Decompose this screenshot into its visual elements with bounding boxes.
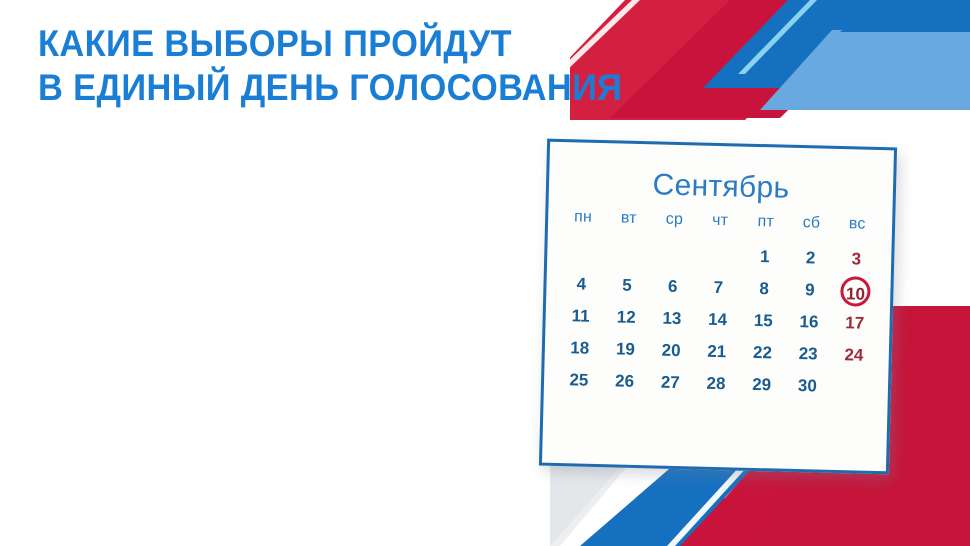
calendar-body: 1234567891011121314151617181920212223242…: [556, 236, 880, 404]
page-title-line-1: КАКИЕ ВЫБОРЫ ПРОЙДУТ: [38, 22, 622, 66]
calendar-day-27[interactable]: 27: [647, 366, 693, 399]
calendar-day-28[interactable]: 28: [693, 367, 739, 400]
calendar-day-21[interactable]: 21: [694, 335, 740, 368]
calendar-day-number: 25: [569, 371, 588, 388]
calendar-day-number: 28: [706, 375, 725, 392]
calendar-day-number: 11: [571, 307, 589, 324]
calendar-day-10[interactable]: 10: [832, 275, 879, 308]
calendar-day-number: 17: [845, 314, 864, 331]
calendar-day-5[interactable]: 5: [604, 269, 650, 302]
calendar-day-empty: [605, 237, 651, 270]
calendar-panel: Сентябрь пн вт ср чт пт сб вс 1234567891…: [539, 139, 897, 475]
calendar-day-number: 26: [615, 372, 634, 389]
calendar-week-row: 252627282930: [556, 364, 877, 404]
calendar-day-number: 15: [754, 312, 773, 329]
calendar-day-15[interactable]: 15: [740, 305, 786, 338]
decor-cyan-accent-line: [738, 0, 817, 74]
calendar-grid: пн вт ср чт пт сб вс 1234567891011121314…: [556, 206, 881, 404]
calendar-day-number: 7: [713, 279, 723, 296]
calendar-day-number: 30: [798, 377, 817, 394]
calendar-day-number: 8: [759, 280, 769, 297]
calendar-day-20[interactable]: 20: [648, 334, 694, 367]
calendar-day-number: 20: [661, 342, 680, 359]
calendar-day-17[interactable]: 17: [831, 307, 878, 340]
calendar-day-number: 3: [851, 250, 861, 267]
calendar-weekday-sun: вс: [834, 213, 881, 244]
poster-canvas: КАКИЕ ВЫБОРЫ ПРОЙДУТ В ЕДИНЫЙ ДЕНЬ ГОЛОС…: [0, 0, 970, 546]
calendar-day-23[interactable]: 23: [785, 338, 831, 371]
calendar-day-9[interactable]: 9: [787, 274, 833, 307]
calendar-day-number: 5: [622, 277, 632, 294]
calendar-day-highlight-ring: 10: [840, 276, 871, 307]
calendar-day-16[interactable]: 16: [786, 306, 832, 339]
calendar-weekday-sat: сб: [788, 212, 834, 243]
calendar-day-number: 12: [617, 308, 636, 325]
calendar-weekday-mon: пн: [560, 206, 606, 237]
calendar-day-3[interactable]: 3: [833, 243, 880, 276]
calendar-day-26[interactable]: 26: [601, 365, 647, 398]
calendar-day-number: 18: [570, 339, 589, 356]
calendar-day-6[interactable]: 6: [649, 270, 695, 303]
decor-blue-band-lower: [840, 0, 970, 32]
calendar-day-11[interactable]: 11: [557, 300, 603, 333]
calendar-day-18[interactable]: 18: [556, 332, 602, 365]
calendar-day-empty: [650, 238, 696, 271]
calendar-day-number: 1: [760, 248, 770, 265]
decor-white-accent-line-4: [667, 466, 748, 546]
calendar-day-12[interactable]: 12: [603, 301, 649, 334]
calendar-weekday-thu: чт: [697, 209, 743, 240]
calendar-day-number: 9: [805, 281, 815, 298]
calendar-day-1[interactable]: 1: [742, 241, 788, 274]
calendar-day-number: 4: [576, 275, 586, 292]
calendar-weekday-fri: пт: [742, 211, 788, 242]
calendar-day-29[interactable]: 29: [738, 369, 784, 402]
calendar-day-24[interactable]: 24: [831, 339, 878, 372]
decor-blue-band: [703, 0, 900, 88]
calendar-day-empty: [559, 236, 605, 269]
calendar-day-number: 29: [752, 376, 771, 393]
calendar-day-number: 21: [707, 343, 726, 360]
calendar-day-number: 27: [661, 374, 680, 391]
calendar-day-number: 16: [799, 313, 818, 330]
calendar-day-number: 24: [844, 346, 863, 363]
calendar-weekday-tue: вт: [605, 207, 651, 238]
calendar-day-25[interactable]: 25: [556, 364, 602, 397]
calendar-day-8[interactable]: 8: [741, 273, 787, 306]
calendar-card: Сентябрь пн вт ср чт пт сб вс 1234567891…: [539, 139, 897, 475]
calendar-day-13[interactable]: 13: [649, 302, 695, 335]
calendar-day-22[interactable]: 22: [739, 337, 785, 370]
calendar-day-19[interactable]: 19: [602, 333, 648, 366]
calendar-day-30[interactable]: 30: [784, 370, 830, 403]
calendar-day-number: 2: [806, 249, 816, 266]
page-title: КАКИЕ ВЫБОРЫ ПРОЙДУТ В ЕДИНЫЙ ДЕНЬ ГОЛОС…: [38, 22, 666, 110]
calendar-month-label: Сентябрь: [549, 166, 894, 209]
calendar-day-14[interactable]: 14: [694, 303, 740, 336]
calendar-day-empty: [696, 239, 742, 272]
decor-light-blue-band: [760, 30, 970, 110]
calendar-day-number: 6: [668, 278, 678, 295]
calendar-day-4[interactable]: 4: [558, 268, 604, 301]
page-title-line-2: В ЕДИНЫЙ ДЕНЬ ГОЛОСОВАНИЯ: [38, 66, 622, 110]
calendar-day-7[interactable]: 7: [695, 271, 741, 304]
calendar-day-number: 19: [616, 340, 635, 357]
calendar-day-number: 13: [662, 310, 681, 327]
calendar-day-empty: [830, 371, 877, 404]
calendar-day-number: 14: [708, 311, 727, 328]
calendar-day-number: 22: [753, 344, 772, 361]
calendar-day-number: 23: [799, 345, 818, 362]
calendar-weekday-wed: ср: [651, 208, 697, 239]
calendar-day-2[interactable]: 2: [787, 242, 833, 275]
